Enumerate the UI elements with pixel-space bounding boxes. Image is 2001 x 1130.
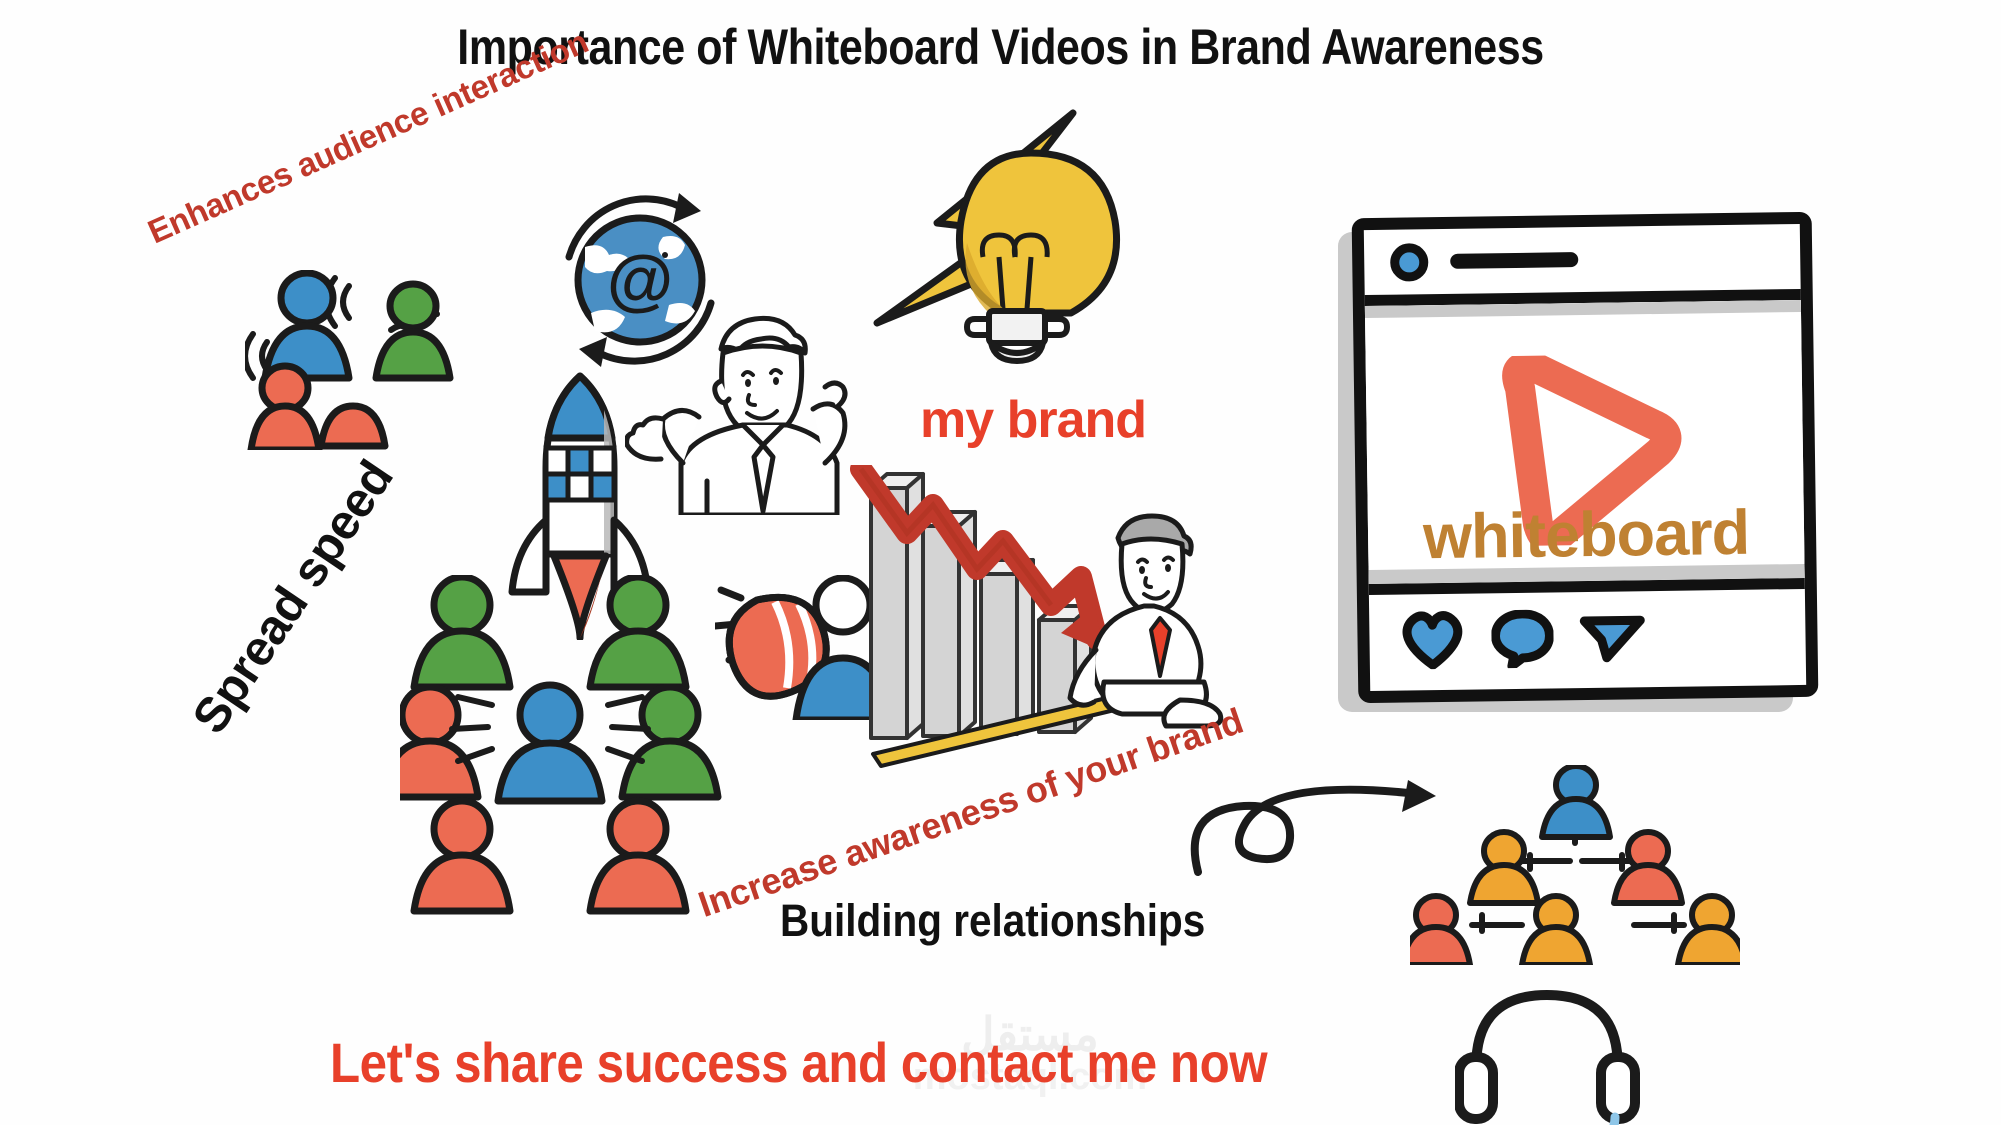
headset-support-icon (1455, 985, 1640, 1125)
lightbulb-idea-icon (855, 105, 1185, 405)
call-to-action-text: Let's share success and contact me now (330, 1030, 1267, 1095)
video-content-area[interactable]: whiteboard (1365, 300, 1805, 595)
send-icon[interactable] (1579, 611, 1646, 669)
audience-cluster-icon (245, 270, 475, 450)
social-action-bar (1369, 589, 1806, 691)
sitting-man-illustration (1060, 510, 1260, 730)
infographic-canvas: Importance of Whiteboard Videos in Brand… (0, 0, 2001, 1125)
relationship-network-cluster (1410, 765, 1740, 965)
address-bar-placeholder (1450, 252, 1578, 269)
label-spread-speed: Spread speed (182, 451, 405, 744)
browser-titlebar (1364, 224, 1801, 306)
browser-frame: whiteboard (1352, 212, 1819, 703)
window-dot-icon (1390, 243, 1429, 282)
label-building-relationships: Building relationships (780, 895, 1205, 947)
crowd-cluster (400, 575, 780, 995)
whiteboard-video-card[interactable]: whiteboard (1355, 215, 1815, 700)
page-title: Importance of Whiteboard Videos in Brand… (140, 18, 1861, 76)
comment-icon[interactable] (1491, 609, 1554, 673)
my-brand-label: my brand (920, 390, 1146, 450)
brand-word: whiteboard (1368, 496, 1805, 574)
heart-icon[interactable] (1399, 610, 1466, 674)
